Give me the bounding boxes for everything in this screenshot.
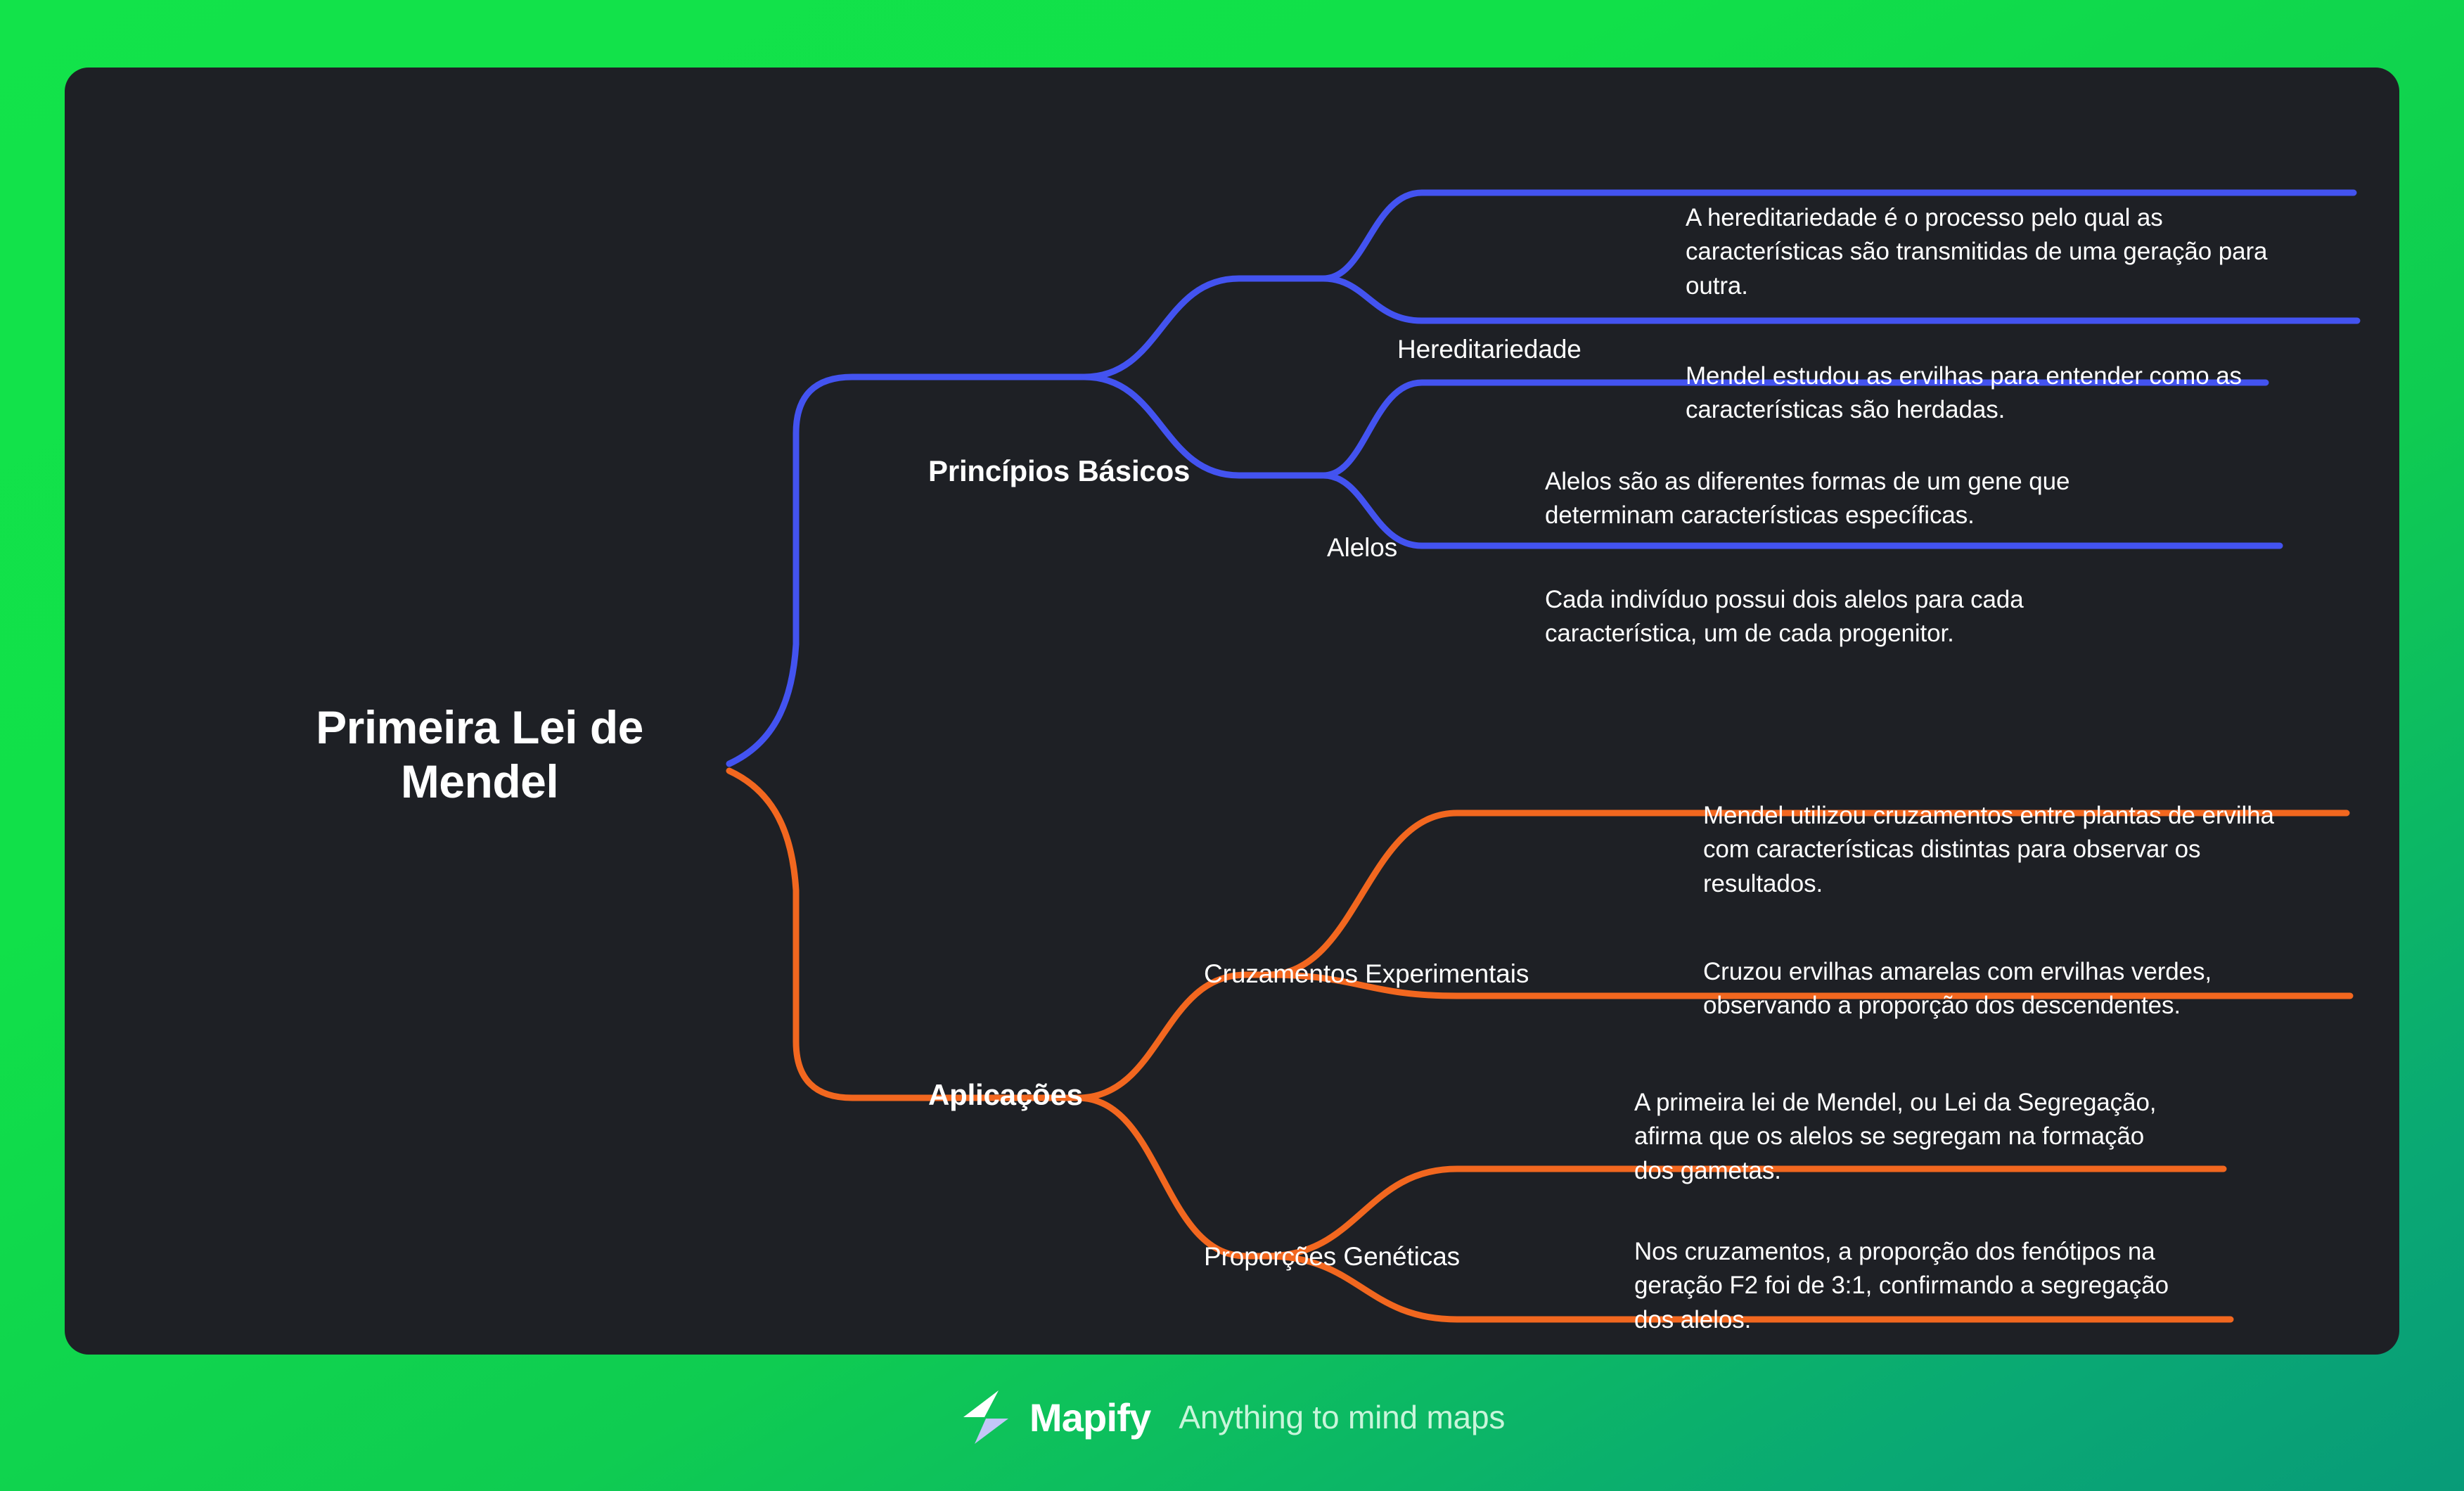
leaf-hereditariedade-1[interactable]: A hereditariedade é o processo pelo qual…	[1686, 201, 2276, 303]
wire-principios-to-hereditariedade	[1084, 279, 1323, 377]
root-node[interactable]: Primeira Lei de Mendel	[233, 700, 726, 808]
leaf-cruzamentos-2[interactable]: Cruzou ervilhas amarelas com ervilhas ve…	[1703, 955, 2266, 1023]
subnode-hereditariedade[interactable]: Hereditariedade	[1397, 335, 1581, 364]
brand-name: Mapify	[1029, 1395, 1151, 1440]
wire-root-to-aplicacoes	[729, 771, 1077, 1098]
brand-tagline: Anything to mind maps	[1179, 1398, 1505, 1436]
mindmap-canvas: Primeira Lei de Mendel Princípios Básico…	[65, 68, 2399, 1355]
wire-aplicacoes-to-proporcoes	[1077, 1098, 1267, 1256]
leaf-proporcoes-1[interactable]: A primeira lei de Mendel, ou Lei da Segr…	[1634, 1086, 2190, 1188]
branch-node-aplicacoes[interactable]: Aplicações	[928, 1078, 1083, 1112]
subnode-alelos[interactable]: Alelos	[1327, 533, 1397, 563]
wire-aplicacoes-to-cruzamentos	[1077, 975, 1267, 1098]
leaf-alelos-2[interactable]: Cada indivíduo possui dois alelos para c…	[1545, 583, 2157, 651]
leaf-cruzamentos-1[interactable]: Mendel utilizou cruzamentos entre planta…	[1703, 799, 2287, 901]
leaf-alelos-1[interactable]: Alelos são as diferentes formas de um ge…	[1545, 465, 2079, 533]
footer-branding: Mapify Anything to mind maps	[0, 1375, 2464, 1459]
subnode-proporcoes-geneticas[interactable]: Proporções Genéticas	[1204, 1242, 1460, 1272]
subnode-cruzamentos-experimentais[interactable]: Cruzamentos Experimentais	[1204, 959, 1529, 989]
wire-root-to-principios	[729, 377, 1084, 764]
branch-node-principios-basicos[interactable]: Princípios Básicos	[928, 454, 1190, 488]
lightning-bolt-icon	[959, 1389, 1011, 1445]
leaf-hereditariedade-2[interactable]: Mendel estudou as ervilhas para entender…	[1686, 359, 2318, 428]
leaf-proporcoes-2[interactable]: Nos cruzamentos, a proporção dos fenótip…	[1634, 1235, 2190, 1337]
